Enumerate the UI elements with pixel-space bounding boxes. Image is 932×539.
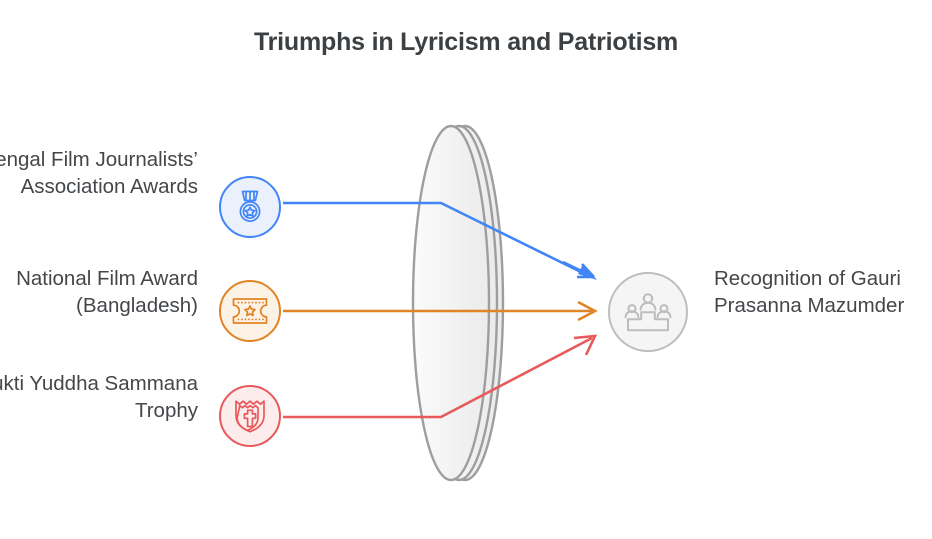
target-label-recognition: Recognition of Gauri Prasanna Mazumder (714, 266, 924, 319)
medal-icon-node[interactable] (219, 176, 281, 238)
medal-icon (233, 189, 267, 225)
podium-icon-node[interactable] (608, 272, 688, 352)
source-label-mukti: Mukti Yuddha Sammana Trophy (0, 371, 198, 424)
source-label-national: National Film Award (Bangladesh) (0, 266, 198, 319)
ticket-icon-node[interactable] (219, 280, 281, 342)
shield-cross-icon (233, 398, 267, 434)
center-disc-stack (413, 126, 503, 480)
source-label-bengal: Bengal Film Journalists’ Association Awa… (0, 147, 198, 200)
podium-people-icon (623, 291, 673, 333)
page-title: Triumphs in Lyricism and Patriotism (0, 28, 932, 57)
ticket-star-icon (231, 296, 269, 326)
shield-icon-node[interactable] (219, 385, 281, 447)
